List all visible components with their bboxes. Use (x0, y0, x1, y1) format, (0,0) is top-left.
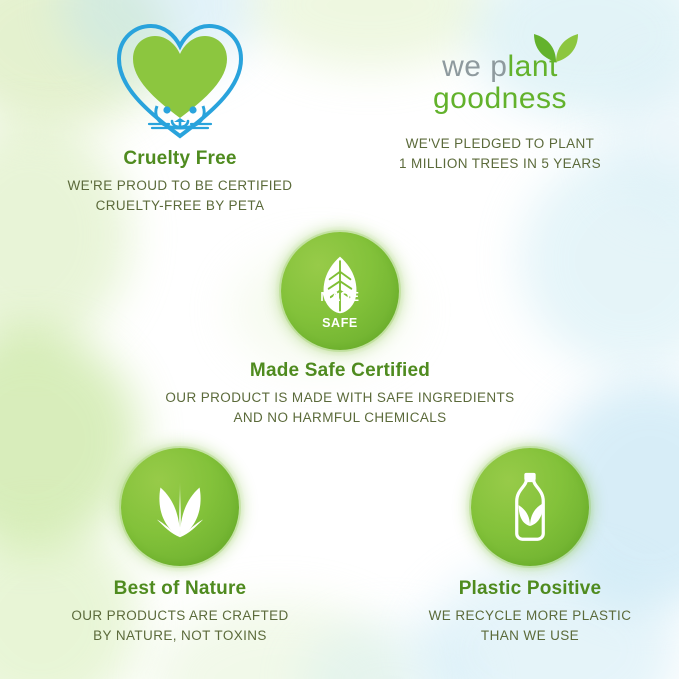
badge-grid: Cruelty Free WE'RE PROUD TO BE CERTIFIED… (0, 0, 679, 679)
badge-best-of-nature: Best of Nature OUR PRODUCTS ARE CRAFTED … (20, 448, 340, 645)
sprout-badge-icon (121, 448, 239, 566)
badge-title: Made Safe Certified (150, 360, 530, 382)
we-plant-goodness-logo: we plant goodness (395, 52, 605, 114)
leaf-badge-icon: MADE SAFE (281, 232, 399, 350)
badge-description: WE RECYCLE MORE PLASTIC THAN WE USE (380, 606, 679, 645)
badge-description: OUR PRODUCT IS MADE WITH SAFE INGREDIENT… (150, 388, 530, 427)
badge-title: Plastic Positive (380, 578, 679, 600)
badge-title: Best of Nature (20, 578, 340, 600)
badge-title: Cruelty Free (20, 148, 340, 170)
badge-description: WE'RE PROUD TO BE CERTIFIED CRUELTY-FREE… (20, 176, 340, 215)
badge-made-safe: MADE SAFE Made Safe Certified OUR PRODUC… (150, 232, 530, 427)
badge-we-plant-goodness: we plant goodness WE'VE PLEDGED TO PLANT… (340, 52, 660, 173)
badge-description: OUR PRODUCTS ARE CRAFTED BY NATURE, NOT … (20, 606, 340, 645)
badge-description: WE'VE PLEDGED TO PLANT 1 MILLION TREES I… (340, 134, 660, 173)
badge-cruelty-free: Cruelty Free WE'RE PROUD TO BE CERTIFIED… (20, 14, 340, 215)
leaf-sprout-icon (526, 30, 586, 64)
infographic-page: Cruelty Free WE'RE PROUD TO BE CERTIFIED… (0, 0, 679, 679)
bunny-heart-icon (105, 14, 255, 142)
badge-plastic-positive: Plastic Positive WE RECYCLE MORE PLASTIC… (380, 448, 679, 645)
logo-line-2: goodness (395, 84, 605, 114)
badge-inner-text: MADE SAFE (281, 278, 399, 331)
bottle-badge-icon (471, 448, 589, 566)
